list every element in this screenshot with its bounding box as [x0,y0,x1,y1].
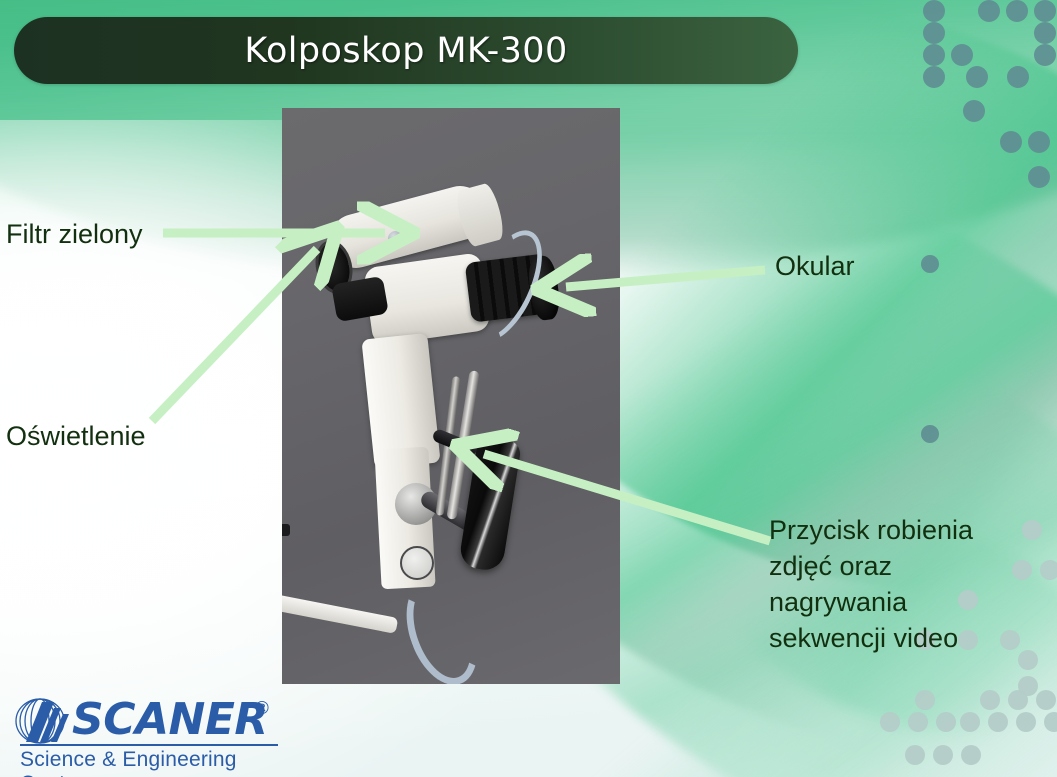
decor-dot [1008,690,1028,710]
decor-dot [921,425,939,443]
decor-dot [933,745,953,765]
decor-dot [1034,0,1056,22]
photo-round-button [400,546,434,580]
decor-dot [980,690,1000,710]
decor-dot [1000,630,1020,650]
title-bar: Kolposkop MK-300 [14,17,798,84]
slide-canvas: Kolposkop MK-300 [0,0,1057,777]
photo-base-arm [282,594,398,634]
decor-dot [923,66,945,88]
decor-dot [978,0,1000,22]
label-green-filter: Filtr zielony [6,217,143,251]
decor-dot [1034,44,1056,66]
decor-dot [966,66,988,88]
scaner-logo: SCANER ® Science & Engineering Center [10,694,290,777]
decor-dot [1006,0,1028,22]
decor-dot [1012,560,1032,580]
decor-dot [1034,22,1056,44]
decor-dot [1007,66,1029,88]
decor-dot [923,0,945,22]
decor-dot [936,712,956,732]
decor-dot [908,712,928,732]
decor-dot [1022,520,1042,540]
logo-divider [20,744,278,746]
decor-dot [963,100,985,122]
decor-dot [923,44,945,66]
decor-dot [1036,690,1056,710]
decor-dot [1016,712,1036,732]
decor-dot [1040,560,1057,580]
decor-dot [1028,166,1050,188]
decor-dot [1018,650,1038,670]
decor-dot [1028,131,1050,153]
decor-dot [915,690,935,710]
scaner-tagline: Science & Engineering Center [20,748,290,777]
label-illumination: Oświetlenie [6,419,146,453]
page-title: Kolposkop MK-300 [14,31,798,71]
photo-capture-handle [458,435,522,572]
decor-dot [961,745,981,765]
decor-dot [988,712,1008,732]
decor-dot [921,255,939,273]
photo-left-fixture [282,524,290,536]
label-capture-button: Przycisk robienia zdjęć oraz nagrywania … [769,512,973,656]
decor-dot [960,712,980,732]
scaner-wordmark: SCANER [72,694,268,745]
decor-dot [951,44,973,66]
decor-dot [1044,712,1057,732]
label-eyepiece: Okular [775,249,855,283]
decor-dot [905,745,925,765]
decor-dot [1000,131,1022,153]
colposcope-photo [282,108,620,684]
registered-trademark-icon: ® [253,698,271,719]
photo-content [282,108,620,684]
scaner-logo-mark [14,696,74,748]
decor-dot [880,712,900,732]
decor-dot [923,22,945,44]
photo-knob [388,231,403,246]
